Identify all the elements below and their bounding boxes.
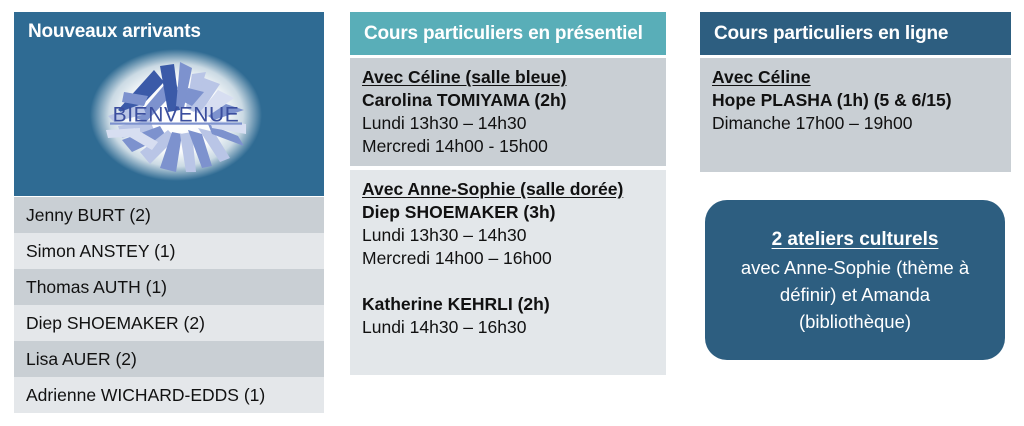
student-name: Carolina TOMIYAMA (2h): [362, 89, 654, 112]
student-name: Hope PLASHA (1h) (5 & 6/15): [712, 89, 999, 112]
bienvenue-logo: BIENVENUE: [88, 48, 264, 182]
schedule-line: Mercredi 14h00 – 16h00: [362, 247, 654, 270]
block-heading: Avec Céline (salle bleue): [362, 66, 654, 89]
arrival-name: Lisa AUER (2): [26, 349, 137, 370]
callout-title: 2 ateliers culturels: [772, 226, 939, 254]
schedule-line: Lundi 14h30 – 16h30: [362, 316, 654, 339]
in-person-courses-title: Cours particuliers en présentiel: [364, 23, 643, 45]
online-courses-header: Cours particuliers en ligne: [700, 12, 1011, 55]
list-item: Jenny BURT (2): [14, 197, 324, 233]
block-heading: Avec Céline: [712, 66, 999, 89]
callout-line: définir) et Amanda: [780, 281, 930, 308]
list-item: Simon ANSTEY (1): [14, 233, 324, 269]
new-arrivals-title: Nouveaux arrivants: [28, 21, 201, 43]
block-spacer: [362, 270, 654, 293]
schedule-line: Mercredi 14h00 - 15h00: [362, 135, 654, 158]
schedule-line: Lundi 13h30 – 14h30: [362, 224, 654, 247]
list-item: Diep SHOEMAKER (2): [14, 305, 324, 341]
student-name: Diep SHOEMAKER (3h): [362, 201, 654, 224]
callout-line: (bibliothèque): [799, 308, 911, 335]
schedule-line: Lundi 13h30 – 14h30: [362, 112, 654, 135]
list-item: Lisa AUER (2): [14, 341, 324, 377]
list-item: Thomas AUTH (1): [14, 269, 324, 305]
online-courses-title: Cours particuliers en ligne: [714, 23, 948, 45]
arrival-name: Adrienne WICHARD-EDDS (1): [26, 385, 265, 406]
in-person-courses-header: Cours particuliers en présentiel: [350, 12, 666, 55]
arrival-name: Simon ANSTEY (1): [26, 241, 175, 262]
list-item: Adrienne WICHARD-EDDS (1): [14, 377, 324, 413]
arrival-name: Jenny BURT (2): [26, 205, 151, 226]
online-celine-block: Avec Céline Hope PLASHA (1h) (5 & 6/15) …: [700, 58, 1011, 172]
callout-line: avec Anne-Sophie (thème à: [741, 254, 969, 281]
in-person-celine-block: Avec Céline (salle bleue) Carolina TOMIY…: [350, 58, 666, 166]
arrival-name: Diep SHOEMAKER (2): [26, 313, 205, 334]
in-person-anne-sophie-block: Avec Anne-Sophie (salle dorée) Diep SHOE…: [350, 170, 666, 375]
arrival-name: Thomas AUTH (1): [26, 277, 167, 298]
svg-text:BIENVENUE: BIENVENUE: [113, 104, 240, 127]
cultural-workshops-callout: 2 ateliers culturels avec Anne-Sophie (t…: [705, 200, 1005, 360]
student-name: Katherine KEHRLI (2h): [362, 293, 654, 316]
schedule-line: Dimanche 17h00 – 19h00: [712, 112, 999, 135]
block-heading: Avec Anne-Sophie (salle dorée): [362, 178, 654, 201]
